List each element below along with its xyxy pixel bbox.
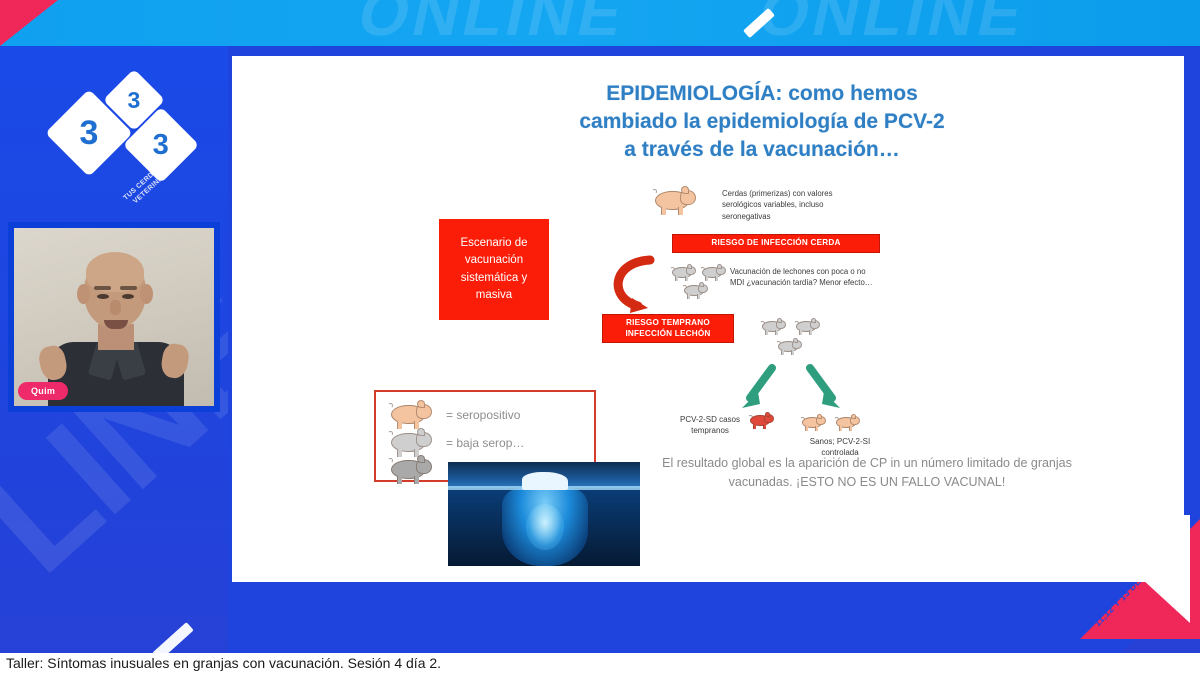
webinar-screen: ONLINE ONLINE LINE 3 3 3 TUS CERDOS TU V…: [0, 0, 1200, 675]
speaker-figure: [14, 228, 214, 406]
risk-piglet-label: RIESGO TEMPRANO INFECCIÓN LECHÓN: [602, 314, 734, 343]
slide-title-line-1: EPIDEMIOLOGÍA: como hemos: [462, 80, 1062, 108]
red-curved-arrow-icon: [602, 254, 664, 316]
webcam-video: Quim: [14, 228, 214, 406]
conclusion-text: El resultado global es la aparición de C…: [632, 454, 1102, 493]
piglet-note: Vacunación de lechones con poca o no MDI…: [730, 266, 880, 289]
slide-title-line-2: cambiado la epidemiología de PCV-2: [462, 108, 1062, 136]
seronegative-pig-icon: [388, 455, 432, 484]
banner-watermark-text-2: ONLINE: [752, 0, 1034, 46]
legend-item-2: = baja serop…: [388, 428, 524, 457]
legend-label-1: = seropositivo: [446, 408, 520, 422]
presentation-slide[interactable]: EPIDEMIOLOGÍA: como hemos cambiado la ep…: [232, 56, 1184, 582]
slide-title: EPIDEMIOLOGÍA: como hemos cambiado la ep…: [462, 80, 1062, 164]
sow-pig-icon: [652, 186, 696, 220]
low-seropositive-pig-icon: [388, 428, 432, 457]
seropositive-pig-icon: [388, 400, 432, 429]
slide-title-line-3: a través de la vacunación…: [462, 136, 1062, 164]
logo-digit-2: 3: [128, 86, 141, 113]
banner-pink-triangle: [0, 0, 58, 46]
outcome-left-caption: PCV-2-SD casos tempranos: [668, 414, 752, 436]
iceberg-image: [448, 462, 640, 566]
legend-item-3: [388, 455, 446, 484]
sow-note: Cerdas (primerizas) con valores serológi…: [722, 188, 872, 222]
caption-text: Taller: Síntomas inusuales en granjas co…: [6, 655, 441, 671]
top-banner: ONLINE ONLINE: [0, 0, 1200, 46]
caption-bar: Taller: Síntomas inusuales en granjas co…: [0, 653, 1200, 675]
risk-sow-label: RIESGO DE INFECCIÓN CERDA: [672, 234, 880, 253]
green-arrow-left-icon: [738, 364, 784, 410]
logo-digit-1: 3: [80, 113, 99, 152]
legend-label-2: = baja serop…: [446, 436, 524, 450]
logo-333: 3 3 3 TUS CERDOS TU VETERINARIO: [58, 78, 188, 188]
banner-watermark-text: ONLINE: [352, 0, 634, 46]
scenario-box: Escenario de vacunación sistemática y ma…: [439, 219, 549, 320]
legend-item-1: = seropositivo: [388, 400, 520, 429]
speaker-name-badge: Quim: [18, 382, 68, 400]
green-arrow-right-icon: [798, 364, 844, 410]
infection-flow-diagram: Cerdas (primerizas) con valores serológi…: [652, 186, 1052, 496]
webcam-tile[interactable]: Quim: [8, 222, 220, 412]
